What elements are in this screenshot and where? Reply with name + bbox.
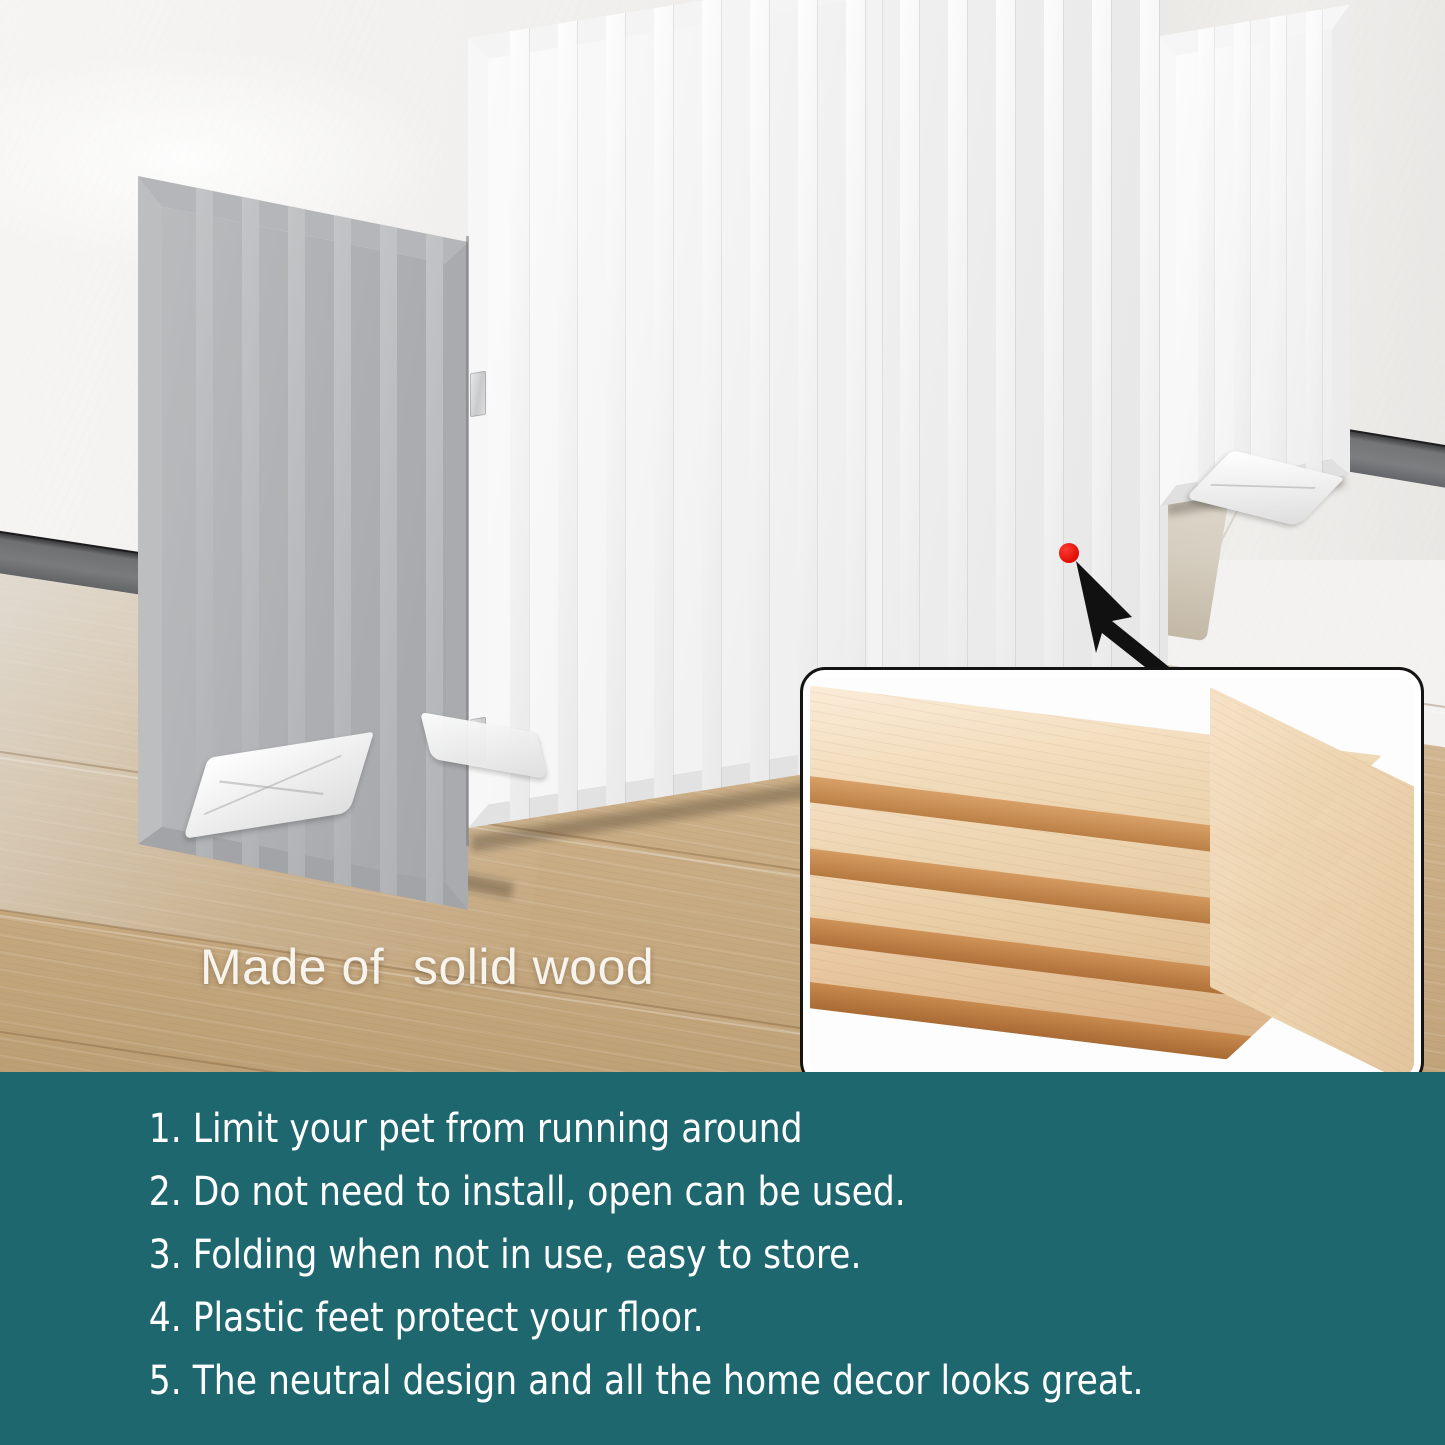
gate-hinge xyxy=(470,371,486,418)
solid-wood-inset xyxy=(803,670,1421,1072)
room-scene: Made of solid wood xyxy=(0,0,1445,1072)
gate-slat xyxy=(654,5,673,798)
gate-slat xyxy=(558,21,577,814)
gate-slat xyxy=(900,0,919,759)
gate-slat xyxy=(702,0,721,791)
gate-slat xyxy=(380,224,397,895)
feature-item-1: 1. Limit your pet from running around xyxy=(0,1098,1387,1161)
gate-slat xyxy=(750,0,769,783)
gate-slat xyxy=(1306,9,1322,482)
gate-slat xyxy=(948,0,967,751)
features-panel: 1. Limit your pet from running around 2.… xyxy=(0,1072,1445,1445)
feature-item-5: 5. The neutral design and all the home d… xyxy=(0,1350,1387,1413)
gate-slat xyxy=(1234,21,1250,494)
features-list: 1. Limit your pet from running around 2.… xyxy=(0,1072,1445,1413)
gate-slat xyxy=(1270,15,1286,488)
gate-panel-seam-post xyxy=(868,0,882,764)
gate-slat xyxy=(426,234,443,905)
feature-item-3: 3. Folding when not in use, easy to stor… xyxy=(0,1224,1387,1287)
gate-slat xyxy=(846,0,865,767)
gate-slat xyxy=(606,13,625,806)
product-image: Made of solid wood xyxy=(0,0,1445,1445)
feature-item-2: 2. Do not need to install, open can be u… xyxy=(0,1161,1387,1224)
gate-slat xyxy=(510,28,529,821)
gate-slat xyxy=(996,0,1015,743)
gate-slat xyxy=(798,0,817,775)
made-of-solid-wood-label: Made of solid wood xyxy=(200,938,654,996)
gate-slat xyxy=(1198,27,1214,500)
feature-item-4: 4. Plastic feet protect your floor. xyxy=(0,1287,1387,1350)
gate-panel-4 xyxy=(1160,5,1350,506)
